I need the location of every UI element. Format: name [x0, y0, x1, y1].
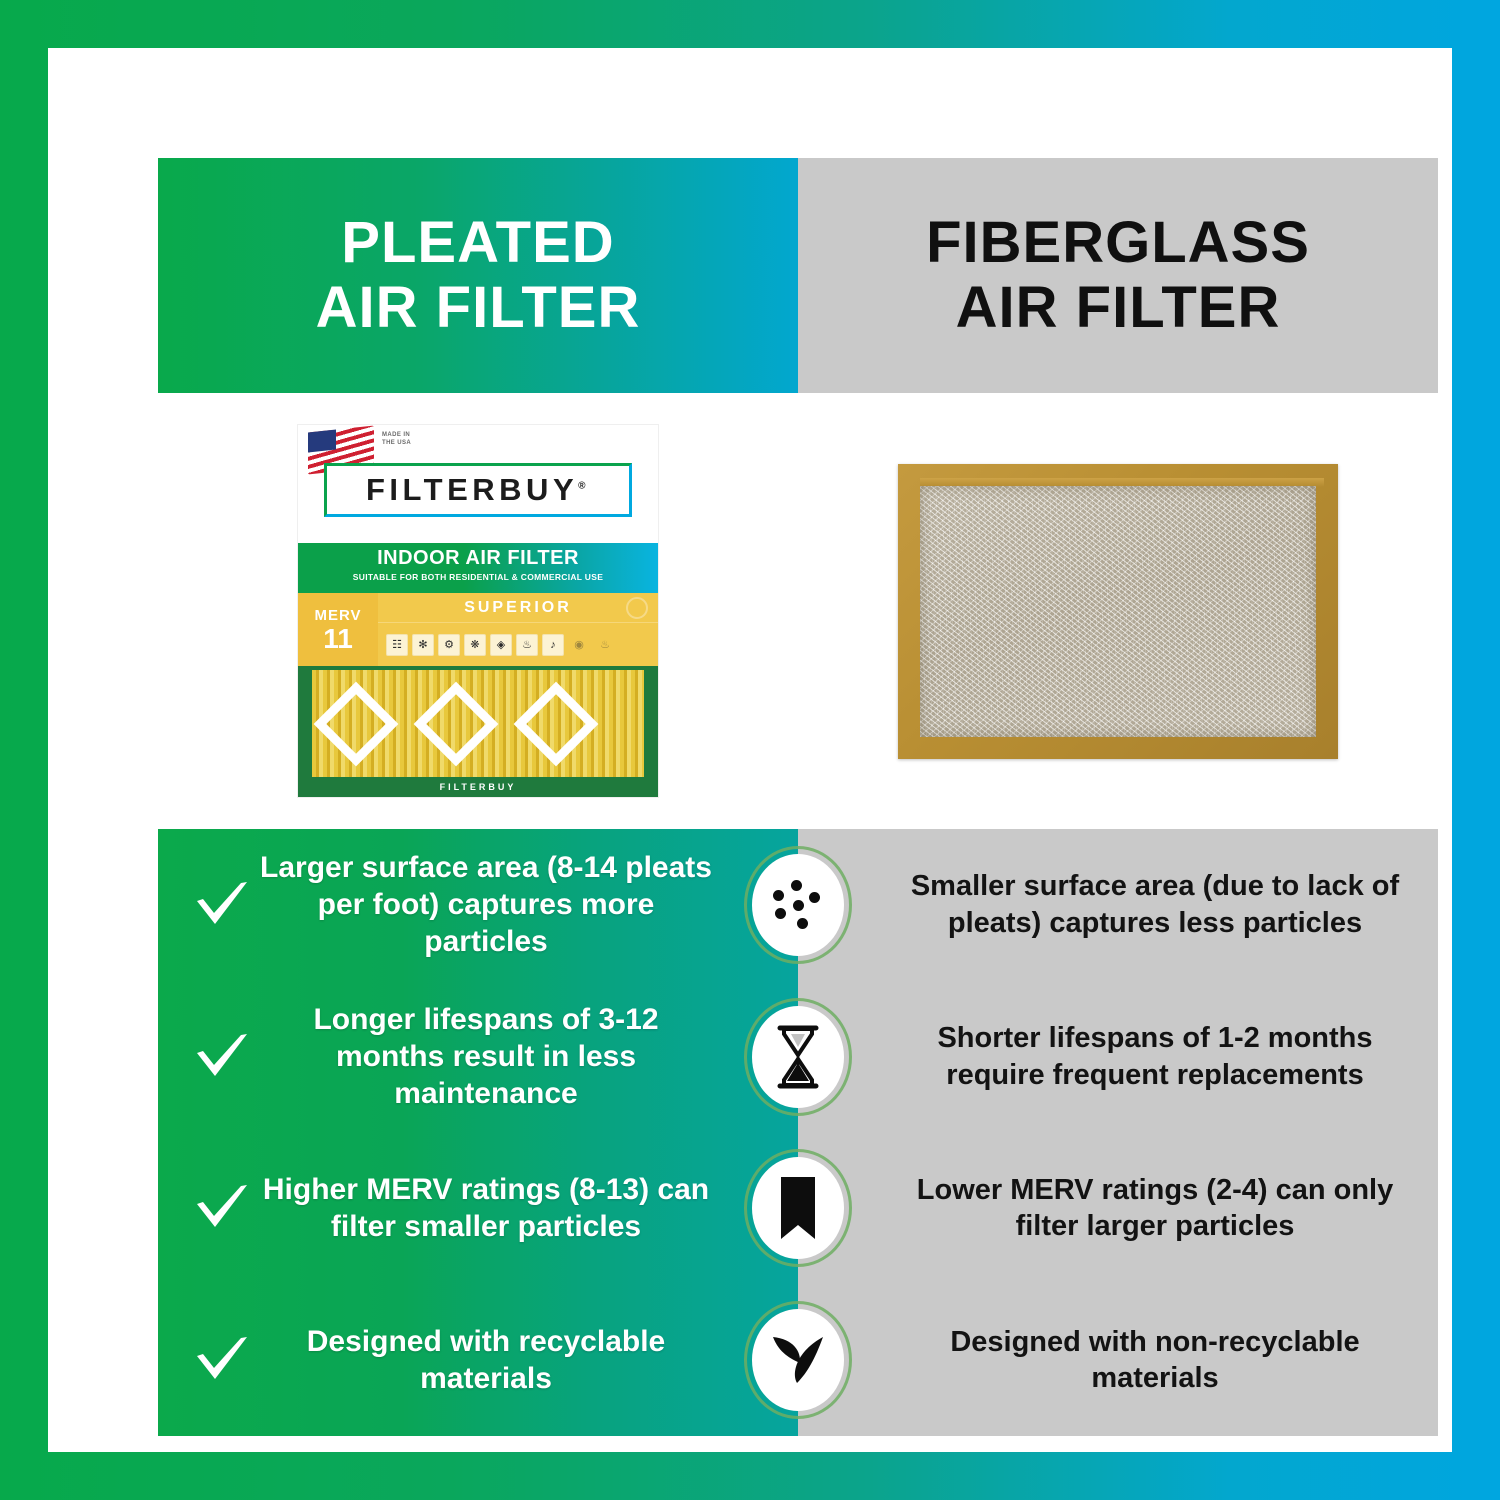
lint-icon: ♨: [594, 634, 616, 656]
header-right-fiberglass: FIBERGLASS AIR FILTER: [798, 158, 1438, 393]
leaf-recycle-icon: [744, 1301, 852, 1419]
product-cell-pleated: MADE IN THE USA FILTERBUY® INDOOR AIR FI…: [158, 393, 798, 829]
product-cell-fiberglass: [798, 393, 1438, 829]
row-text-right: Lower MERV ratings (2-4) can only filter…: [908, 1172, 1402, 1245]
indoor-air-filter-banner: INDOOR AIR FILTER SUITABLE FOR BOTH RESI…: [298, 543, 658, 593]
comparison-rows: Larger surface area (8-14 pleats per foo…: [158, 829, 1438, 1436]
comparison-cell-right: Shorter lifespans of 1-2 months require …: [798, 981, 1438, 1133]
product-image-zone: MADE IN THE USA FILTERBUY® INDOOR AIR FI…: [158, 393, 1438, 829]
brand-name: FILTERBUY®: [366, 472, 590, 508]
comparison-cell-right: Smaller surface area (due to lack of ple…: [798, 829, 1438, 981]
checkmark-icon: [194, 1032, 250, 1082]
particles-icon: [744, 846, 852, 964]
outer-gradient-frame: PLEATED AIR FILTER FIBERGLASS AIR FILTER…: [0, 0, 1500, 1500]
comparison-row: Higher MERV ratings (8-13) can filter sm…: [158, 1133, 1438, 1285]
row-badge: [744, 1149, 852, 1267]
comparison-cell-left: Higher MERV ratings (8-13) can filter sm…: [158, 1133, 798, 1285]
row-text-right: Smaller surface area (due to lack of ple…: [908, 868, 1402, 941]
merv-rating-block: MERV 11: [298, 593, 378, 666]
diamond-support-3: [514, 681, 599, 766]
comparison-row: Designed with recyclable materials: [158, 1284, 1438, 1436]
fiberglass-filter-product-image: [898, 464, 1338, 759]
grade-label: SUPERIOR: [464, 599, 572, 617]
checkmark-icon: [194, 1335, 250, 1385]
made-in-usa-label: MADE IN THE USA: [382, 431, 411, 447]
comparison-cell-left: Longer lifespans of 3-12 months result i…: [158, 981, 798, 1133]
header-title-fiberglass: FIBERGLASS AIR FILTER: [926, 211, 1310, 341]
pleated-footer-brand: FILTERBUY: [298, 777, 658, 797]
dust-icon: ☷: [386, 634, 408, 656]
filtration-icon-strip: ☷ ✻ ⚙ ❋ ◈ ♨ ♪ ◉ ♨: [378, 623, 658, 666]
brand-trademark: ®: [578, 481, 590, 492]
grade-label-wrap: SUPERIOR: [378, 593, 658, 623]
pleated-filter-product-image: MADE IN THE USA FILTERBUY® INDOOR AIR FI…: [298, 425, 658, 797]
bacteria-icon: ✻: [412, 634, 434, 656]
bookmark-icon: [744, 1149, 852, 1267]
fiberglass-mesh-texture: [920, 486, 1316, 737]
pet-dander-icon: ♨: [516, 634, 538, 656]
particles-dots: [767, 876, 829, 934]
pleated-box-top: MADE IN THE USA FILTERBUY®: [298, 425, 658, 543]
banner-line-2: SUITABLE FOR BOTH RESIDENTIAL & COMMERCI…: [298, 572, 658, 582]
pleated-media-area: FILTERBUY: [298, 666, 658, 797]
comparison-row: Longer lifespans of 3-12 months result i…: [158, 981, 1438, 1133]
merv-right-block: SUPERIOR ☷ ✻ ⚙ ❋ ◈ ♨ ♪ ◉: [378, 593, 658, 666]
ul-certification-icon: [626, 597, 648, 619]
checkmark-icon: [194, 1183, 250, 1233]
row-text-left: Higher MERV ratings (8-13) can filter sm…: [260, 1171, 712, 1245]
support-grid: [312, 670, 644, 777]
comparison-section: Larger surface area (8-14 pleats per foo…: [158, 829, 1438, 1436]
row-text-right: Shorter lifespans of 1-2 months require …: [908, 1020, 1402, 1093]
mold-icon: ◈: [490, 634, 512, 656]
merv-value: 11: [323, 625, 353, 653]
merv-label: MERV: [314, 607, 361, 624]
infographic-canvas: PLEATED AIR FILTER FIBERGLASS AIR FILTER…: [48, 48, 1452, 1452]
comparison-row: Larger surface area (8-14 pleats per foo…: [158, 829, 1438, 981]
row-text-left: Longer lifespans of 3-12 months result i…: [260, 1001, 712, 1113]
row-text-left: Larger surface area (8-14 pleats per foo…: [260, 849, 712, 961]
brand-name-text: FILTERBUY: [366, 472, 578, 507]
banner-line-1: INDOOR AIR FILTER: [298, 547, 658, 570]
comparison-cell-right: Lower MERV ratings (2-4) can only filter…: [798, 1133, 1438, 1285]
row-text-right: Designed with non-recyclable materials: [908, 1324, 1402, 1397]
brand-logo-box: FILTERBUY®: [324, 463, 632, 517]
header-band: PLEATED AIR FILTER FIBERGLASS AIR FILTER: [158, 158, 1438, 393]
smoke-icon: ♪: [542, 634, 564, 656]
diamond-support-1: [314, 681, 399, 766]
comparison-cell-left: Designed with recyclable materials: [158, 1284, 798, 1436]
header-title-pleated: PLEATED AIR FILTER: [316, 211, 641, 341]
row-badge: [744, 846, 852, 964]
comparison-cell-right: Designed with non-recyclable materials: [798, 1284, 1438, 1436]
row-badge: [744, 998, 852, 1116]
row-text-left: Designed with recyclable materials: [260, 1323, 712, 1397]
pollen-icon: ❋: [464, 634, 486, 656]
row-badge: [744, 1301, 852, 1419]
virus-icon: ⚙: [438, 634, 460, 656]
comparison-cell-left: Larger surface area (8-14 pleats per foo…: [158, 829, 798, 981]
dust-mite-icon: ◉: [568, 634, 590, 656]
hourglass-icon: [744, 998, 852, 1116]
diamond-support-2: [414, 681, 499, 766]
merv-band: MERV 11 SUPERIOR ☷ ✻ ⚙: [298, 593, 658, 666]
checkmark-icon: [194, 880, 250, 930]
header-left-pleated: PLEATED AIR FILTER: [158, 158, 798, 393]
